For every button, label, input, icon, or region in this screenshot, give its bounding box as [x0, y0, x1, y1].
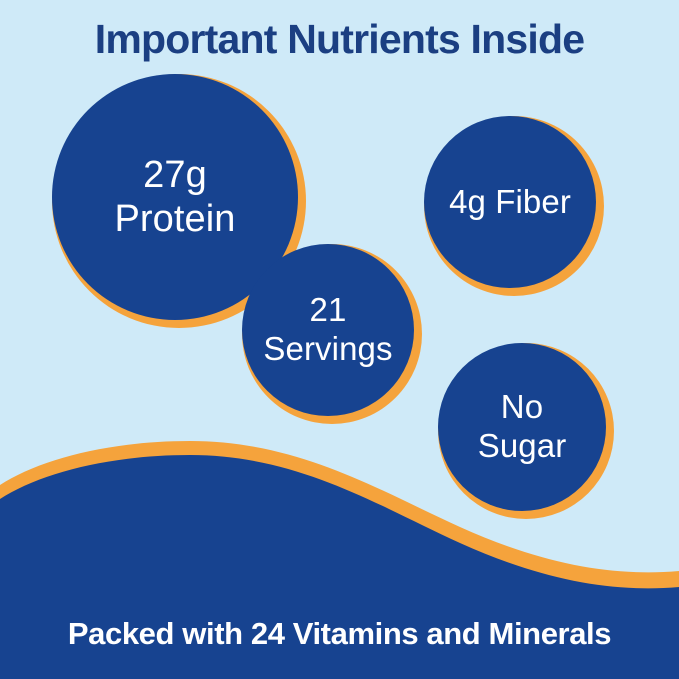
- bubble-label-servings: 21 Servings: [263, 291, 392, 368]
- bubble-label-protein: 27g Protein: [114, 153, 235, 242]
- nutrient-bubble-fiber: 4g Fiber: [424, 116, 604, 296]
- footer-tagline: Packed with 24 Vitamins and Minerals: [0, 616, 679, 652]
- bubble-label-fiber: 4g Fiber: [449, 183, 571, 222]
- page-title: Important Nutrients Inside: [0, 17, 679, 63]
- nutrition-infographic: Important Nutrients Inside 27g Protein 4…: [0, 0, 679, 679]
- nutrient-bubble-servings: 21 Servings: [242, 244, 422, 424]
- bubble-blue-disc: 4g Fiber: [424, 116, 596, 288]
- bubble-blue-disc: 21 Servings: [242, 244, 414, 416]
